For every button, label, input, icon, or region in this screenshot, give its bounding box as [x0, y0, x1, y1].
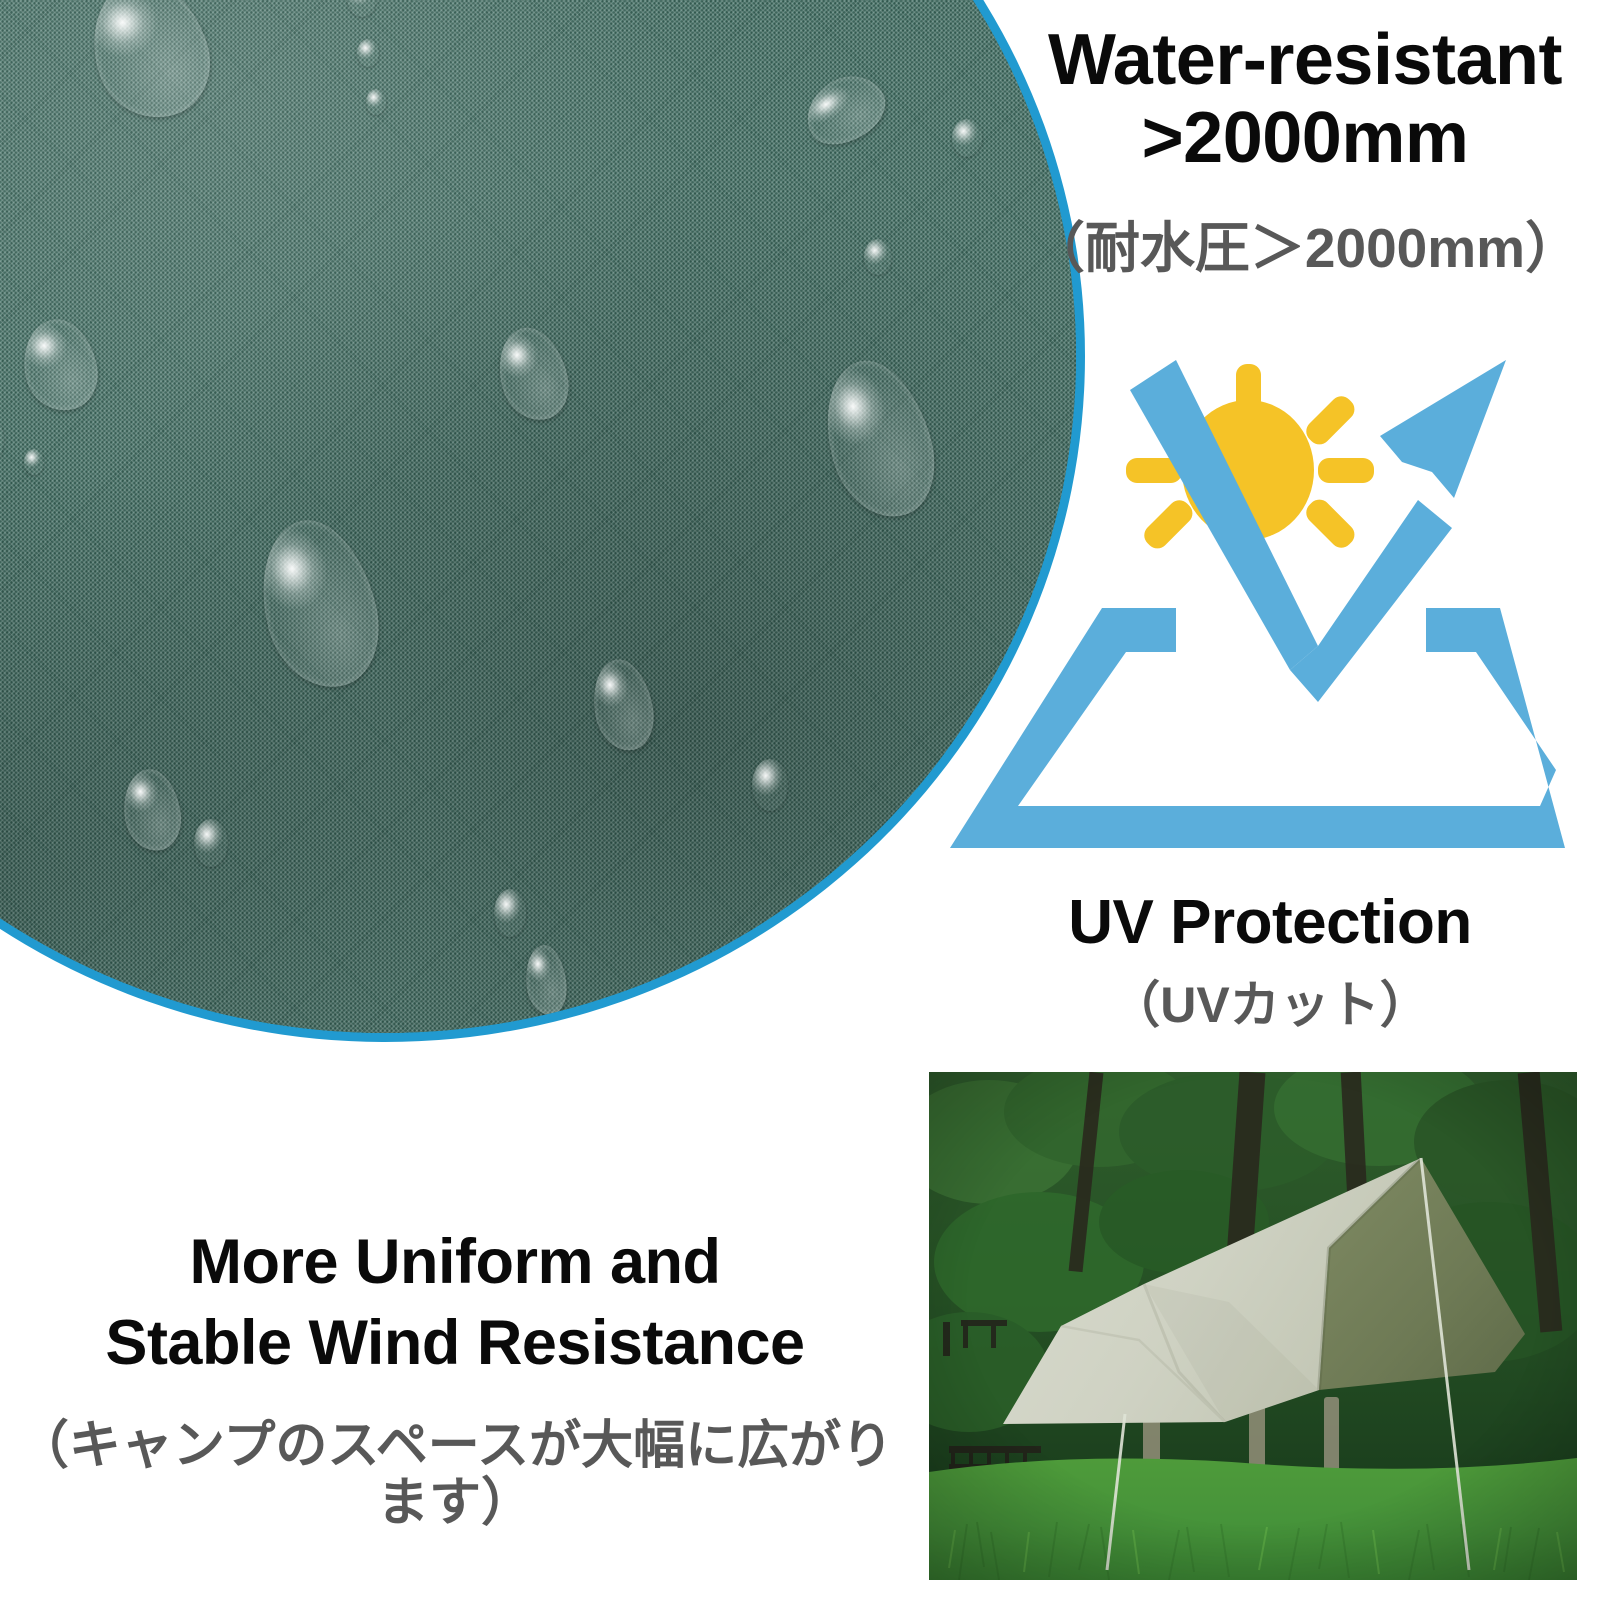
water-resistant-subtitle: （耐水圧＞2000mm）	[1010, 218, 1600, 279]
water-resistant-title-line2: >2000mm	[1010, 100, 1600, 178]
wind-resistance-subtitle: （キャンプのスペースが大幅に広がります）	[10, 1418, 900, 1532]
uv-outgoing-ray	[1290, 500, 1452, 702]
wind-resistance-title-line2: Stable Wind Resistance	[20, 1303, 890, 1384]
water-resistant-fabric-photo	[0, 0, 1085, 1042]
uv-icon-svg	[940, 350, 1580, 880]
uv-protection-icon	[940, 350, 1580, 880]
infographic-page: Water-resistant >2000mm （耐水圧＞2000mm）	[0, 0, 1601, 1601]
water-droplet	[494, 889, 526, 937]
water-droplet	[24, 449, 44, 475]
sun-ray-se	[1302, 495, 1359, 552]
sun-ray-n	[1236, 364, 1261, 420]
tent-shelter-icon	[950, 608, 1565, 848]
sun-ray-e	[1318, 458, 1374, 483]
water-droplet	[357, 39, 379, 67]
tent-left-panel	[950, 608, 1480, 848]
fabric-shading-overlay	[0, 0, 1076, 1033]
sun-ray-sw	[1140, 496, 1197, 553]
water-droplet	[194, 819, 228, 867]
water-resistant-title-line1: Water-resistant	[1010, 22, 1600, 100]
uv-arrow-head	[1380, 360, 1506, 498]
uv-protection-title: UV Protection	[960, 890, 1580, 957]
uv-protection-subtitle: （UVカット）	[960, 978, 1580, 1033]
water-droplet	[366, 89, 386, 115]
wind-resistance-title: More Uniform and Stable Wind Resistance	[20, 1222, 890, 1383]
photo-vignette	[929, 1072, 1577, 1580]
water-resistant-title: Water-resistant >2000mm	[1010, 22, 1600, 178]
wind-resistance-title-line1: More Uniform and	[20, 1222, 890, 1303]
tarp-in-forest-photo	[929, 1072, 1577, 1580]
water-droplet	[952, 119, 982, 157]
tarp-photo-illustration	[929, 1072, 1577, 1580]
water-droplet	[864, 239, 892, 275]
water-droplet	[752, 759, 788, 811]
sun-ray-ne	[1302, 392, 1359, 449]
